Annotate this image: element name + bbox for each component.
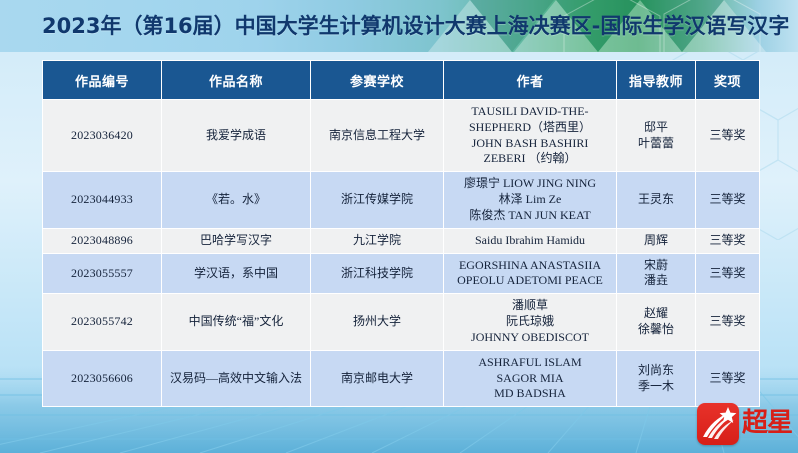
- cell-award: 三等奖: [696, 100, 759, 171]
- cell-author-line: 潘顺草: [447, 298, 613, 314]
- cell-teacher-line: 周辉: [620, 233, 692, 249]
- cell-teacher-line: 赵耀: [620, 306, 692, 322]
- cell-school: 南京邮电大学: [311, 351, 443, 406]
- table-row: 2023055557学汉语，系中国浙江科技学院EGORSHINA ANASTAS…: [43, 254, 759, 294]
- cell-award: 三等奖: [696, 254, 759, 294]
- column-header-author: 作者: [444, 61, 616, 99]
- cell-teacher-line: 季一木: [620, 379, 692, 395]
- cell-id: 2023056606: [43, 351, 161, 406]
- cell-id: 2023048896: [43, 229, 161, 253]
- brand-logo: 超星: [697, 401, 792, 447]
- cell-teacher: 王灵东: [617, 172, 695, 227]
- table-row: 2023048896巴哈学写汉字九江学院Saidu Ibrahim Hamidu…: [43, 229, 759, 253]
- cell-teacher-line: 徐馨怡: [620, 322, 692, 338]
- cell-teacher: 宋蔚潘垚: [617, 254, 695, 294]
- awards-table-container: 作品编号 作品名称 参赛学校 作者 指导教师 奖项 2023036420我爱学成…: [42, 60, 757, 407]
- column-header-title: 作品名称: [162, 61, 310, 99]
- cell-author-line: 阮氏琼娥: [447, 314, 613, 330]
- cell-school: 扬州大学: [311, 294, 443, 349]
- column-header-teacher: 指导教师: [617, 61, 695, 99]
- cell-author-line: 陈俊杰 TAN JUN KEAT: [447, 208, 613, 224]
- cell-title: 巴哈学写汉字: [162, 229, 310, 253]
- cell-title: 我爱学成语: [162, 100, 310, 171]
- cell-award: 三等奖: [696, 294, 759, 349]
- cell-school: 浙江传媒学院: [311, 172, 443, 227]
- cell-author-line: Saidu Ibrahim Hamidu: [447, 233, 613, 249]
- slide-canvas: 2023年（第16届）中国大学生计算机设计大赛上海决赛区-国际生学汉语写汉字 作…: [0, 0, 798, 453]
- table-row: 2023036420我爱学成语南京信息工程大学TAUSILI DAVID-THE…: [43, 100, 759, 171]
- cell-author: ASHRAFUL ISLAMSAGOR MIAMD BADSHA: [444, 351, 616, 406]
- cell-award: 三等奖: [696, 172, 759, 227]
- table-row: 2023056606汉易码—高效中文输入法南京邮电大学ASHRAFUL ISLA…: [43, 351, 759, 406]
- cell-author-line: TAUSILI DAVID-THE-: [447, 104, 613, 120]
- cell-teacher-line: 宋蔚: [620, 258, 692, 274]
- comet-star-icon: [697, 403, 739, 445]
- cell-teacher: 赵耀徐馨怡: [617, 294, 695, 349]
- cell-author: 潘顺草阮氏琼娥JOHNNY OBEDISCOT: [444, 294, 616, 349]
- cell-award: 三等奖: [696, 351, 759, 406]
- cell-teacher-line: 潘垚: [620, 273, 692, 289]
- cell-author: EGORSHINA ANASTASIIAOPEOLU ADETOMI PEACE: [444, 254, 616, 294]
- cell-author-line: OPEOLU ADETOMI PEACE: [447, 273, 613, 289]
- cell-teacher-line: 王灵东: [620, 192, 692, 208]
- table-row: 2023044933《若。水》浙江传媒学院廖璟宁 LIOW JING NING林…: [43, 172, 759, 227]
- cell-author: TAUSILI DAVID-THE-SHEPHERD（塔西里）JOHN BASH…: [444, 100, 616, 171]
- cell-author-line: MD BADSHA: [447, 386, 613, 402]
- cell-title: 《若。水》: [162, 172, 310, 227]
- cell-author-line: SHEPHERD（塔西里）: [447, 120, 613, 136]
- cell-author-line: SAGOR MIA: [447, 371, 613, 387]
- cell-author-line: EGORSHINA ANASTASIIA: [447, 258, 613, 274]
- cell-teacher: 邸平叶蕾蕾: [617, 100, 695, 171]
- cell-author-line: ASHRAFUL ISLAM: [447, 355, 613, 371]
- page-title: 2023年（第16届）中国大学生计算机设计大赛上海决赛区-国际生学汉语写汉字: [42, 0, 789, 52]
- table-header-row: 作品编号 作品名称 参赛学校 作者 指导教师 奖项: [43, 61, 759, 99]
- cell-title: 中国传统“福”文化: [162, 294, 310, 349]
- cell-teacher: 周辉: [617, 229, 695, 253]
- cell-teacher-line: 邸平: [620, 120, 692, 136]
- cell-author-line: JOHN BASH BASHIRI: [447, 136, 613, 152]
- cell-id: 2023055557: [43, 254, 161, 294]
- column-header-award: 奖项: [696, 61, 759, 99]
- cell-title: 学汉语，系中国: [162, 254, 310, 294]
- cell-author: 廖璟宁 LIOW JING NING林泽 Lim Ze陈俊杰 TAN JUN K…: [444, 172, 616, 227]
- cell-id: 2023055742: [43, 294, 161, 349]
- cell-teacher-line: 叶蕾蕾: [620, 136, 692, 152]
- cell-author-line: ZEBERI （约翰）: [447, 151, 613, 167]
- table-body: 2023036420我爱学成语南京信息工程大学TAUSILI DAVID-THE…: [43, 100, 759, 406]
- column-header-id: 作品编号: [43, 61, 161, 99]
- cell-author-line: JOHNNY OBEDISCOT: [447, 330, 613, 346]
- cell-award: 三等奖: [696, 229, 759, 253]
- cell-title: 汉易码—高效中文输入法: [162, 351, 310, 406]
- brand-name: 超星: [742, 410, 792, 439]
- cell-id: 2023036420: [43, 100, 161, 171]
- cell-author-line: 林泽 Lim Ze: [447, 192, 613, 208]
- title-banner: 2023年（第16届）中国大学生计算机设计大赛上海决赛区-国际生学汉语写汉字: [0, 0, 798, 52]
- cell-author-line: 廖璟宁 LIOW JING NING: [447, 176, 613, 192]
- cell-school: 九江学院: [311, 229, 443, 253]
- cell-school: 南京信息工程大学: [311, 100, 443, 171]
- cell-teacher-line: 刘尚东: [620, 363, 692, 379]
- cell-school: 浙江科技学院: [311, 254, 443, 294]
- cell-teacher: 刘尚东季一木: [617, 351, 695, 406]
- column-header-school: 参赛学校: [311, 61, 443, 99]
- cell-author: Saidu Ibrahim Hamidu: [444, 229, 616, 253]
- awards-table: 作品编号 作品名称 参赛学校 作者 指导教师 奖项 2023036420我爱学成…: [42, 60, 760, 407]
- cell-id: 2023044933: [43, 172, 161, 227]
- table-row: 2023055742中国传统“福”文化扬州大学潘顺草阮氏琼娥JOHNNY OBE…: [43, 294, 759, 349]
